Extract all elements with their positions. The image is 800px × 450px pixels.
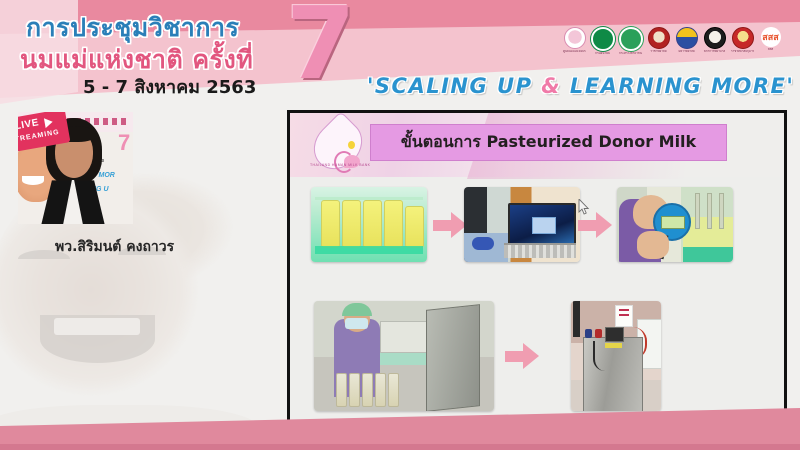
royal-college-logo-icon — [648, 27, 670, 49]
sponsor-caption-2: กระทรวงสาธารณสุข — [619, 52, 642, 55]
photo-nurse-loading-bottles — [314, 301, 494, 411]
valve-cap — [585, 329, 592, 338]
milk-bottle — [388, 373, 399, 407]
sponsor-caption-0: ศูนย์นมแม่แห่งประเทศไทย — [563, 50, 586, 53]
slide-title: ขั้นตอนการ Pasteurized Donor Milk — [401, 130, 696, 155]
slogan-suffix: LEARNING MORE' — [561, 74, 794, 98]
sign-line — [619, 309, 629, 311]
arrow-head-icon — [596, 212, 612, 238]
pasteurizer-lid — [426, 304, 480, 411]
valve-cap — [595, 329, 602, 338]
milk-droplet-icon — [348, 141, 355, 149]
department-health-logo-icon — [619, 27, 643, 51]
pasteurizer-body — [583, 337, 643, 411]
thai-breastfeeding-centre-logo-icon — [564, 27, 586, 49]
arrow-head-icon — [523, 343, 539, 369]
mouse-pointer-icon — [578, 199, 590, 215]
machine-hose — [593, 341, 605, 371]
screen-capture: การประชุมวิชาการ นมแม่แห่งชาติ ครั้งที่ … — [0, 0, 800, 450]
ministry-public-health-logo-icon — [591, 27, 615, 51]
laptop-keyboard — [504, 243, 576, 258]
machine-led-strip — [605, 343, 622, 348]
milk-bottle — [384, 200, 403, 248]
slogan-prefix: 'SCALING UP — [367, 74, 541, 98]
rack-base — [315, 246, 423, 254]
sponsor-caption-4: มหาวิทยาลัย — [675, 50, 698, 53]
milk-bottle — [375, 373, 386, 407]
sss-logo-text: สสส — [761, 27, 781, 47]
presentation-slide-panel: THAILAND HUMAN MILK BANK ขั้นตอนการ Past… — [287, 110, 787, 438]
logo-ring-text: THAILAND HUMAN MILK BANK — [310, 163, 366, 167]
photo-pasteurizer-machine — [571, 301, 661, 411]
slogan-ampersand: & — [541, 74, 561, 98]
sponsor-logo-0: ศูนย์นมแม่แห่งประเทศไทย — [563, 27, 586, 57]
photo-hand-thermometer — [617, 187, 733, 262]
step-arrow-2 — [578, 212, 612, 238]
play-icon — [44, 117, 54, 128]
arrow-shaft — [505, 351, 525, 362]
probe-tube — [695, 193, 700, 229]
sponsor-caption-7: สสส — [759, 48, 782, 51]
slide-title-bar: ขั้นตอนการ Pasteurized Donor Milk — [370, 124, 727, 161]
milk-bottle — [336, 373, 347, 407]
sponsor-caption-5: สภาการพยาบาล — [703, 50, 726, 53]
sponsor-caption-3: ราชวิทยาลัย — [647, 50, 670, 53]
sponsor-logo-row: ศูนย์นมแม่แห่งประเทศไทย กรมอนามัย กระทรว… — [563, 27, 782, 57]
nursing-council-logo-icon — [704, 27, 726, 49]
university-emblem-logo-icon — [676, 27, 698, 49]
arrow-shaft — [578, 220, 598, 231]
sign-line — [619, 314, 629, 316]
speaker-name: พว.สิริมนต์ คงถาวร — [55, 236, 174, 258]
work-station — [380, 321, 428, 353]
milk-bottle — [349, 373, 360, 407]
streaming-badge-label: STREAMING — [18, 129, 60, 145]
milk-bottle — [405, 206, 424, 248]
arrow-shaft — [433, 220, 453, 231]
sponsor-logo-3: ราชวิทยาลัย — [647, 27, 670, 57]
step-arrow-1 — [433, 212, 467, 238]
laptop-screen — [508, 203, 576, 247]
sponsor-logo-5: สภาการพยาบาล — [703, 27, 726, 57]
face-mask-icon — [345, 318, 368, 329]
sponsor-logo-7: สสสสสส — [759, 27, 782, 57]
milk-bottle — [362, 373, 373, 407]
conference-dates: 5 - 7 สิงหาคม 2563 — [83, 72, 256, 101]
sponsor-logo-2: กระทรวงสาธารณสุข — [619, 27, 642, 57]
machine-control-panel — [605, 327, 624, 342]
probe-tube — [719, 193, 724, 229]
conference-slogan: 'SCALING UP & LEARNING MORE' — [367, 74, 794, 98]
green-tray — [376, 353, 428, 365]
milk-bottle — [363, 200, 382, 248]
sponsor-logo-1: กรมอนามัย — [591, 27, 614, 57]
probe-tube — [707, 193, 712, 229]
conference-edition-number: 7 — [286, 0, 356, 94]
drop-inner-graphic — [322, 127, 354, 159]
sponsor-logo-4: มหาวิทยาลัย — [675, 27, 698, 57]
thermometer-display — [661, 216, 685, 229]
photo-laptop-record — [464, 187, 580, 262]
computer-mouse — [472, 237, 494, 250]
milk-bottle — [321, 200, 340, 248]
wall-sign — [615, 305, 633, 327]
live-badge-label: LIVE — [18, 117, 40, 132]
step-arrow-3 — [505, 343, 539, 369]
human-milk-bank-drop-logo: THAILAND HUMAN MILK BANK — [308, 117, 368, 179]
logo-ring-text-wrap: THAILAND HUMAN MILK BANK — [310, 157, 366, 177]
sponsor-caption-6: ราชวิทยาลัยกุมารแพทย์ — [731, 50, 754, 53]
sponsor-caption-1: กรมอนามัย — [591, 52, 614, 55]
thaihealth-sss-logo-icon: สสส — [761, 27, 781, 47]
footer-band-edge — [0, 444, 800, 450]
screen-window — [532, 217, 556, 234]
wall-pipe — [573, 301, 580, 337]
royal-seal-logo-icon — [732, 27, 754, 49]
thumbnail-edition-number: 7 — [118, 132, 130, 154]
sponsor-logo-6: ราชวิทยาลัยกุมารแพทย์ — [731, 27, 754, 57]
tray-base — [683, 247, 733, 262]
hand-lower — [637, 231, 669, 259]
speaker-video-thumbnail[interactable]: การประชุมวิชาการ นมแม่แห่งชาติ ครั้งที่ … — [18, 112, 133, 224]
photo-milk-bottle-rack — [311, 187, 427, 262]
milk-bottle — [342, 200, 361, 248]
child-teeth — [54, 318, 140, 335]
bottle-group — [334, 369, 398, 407]
